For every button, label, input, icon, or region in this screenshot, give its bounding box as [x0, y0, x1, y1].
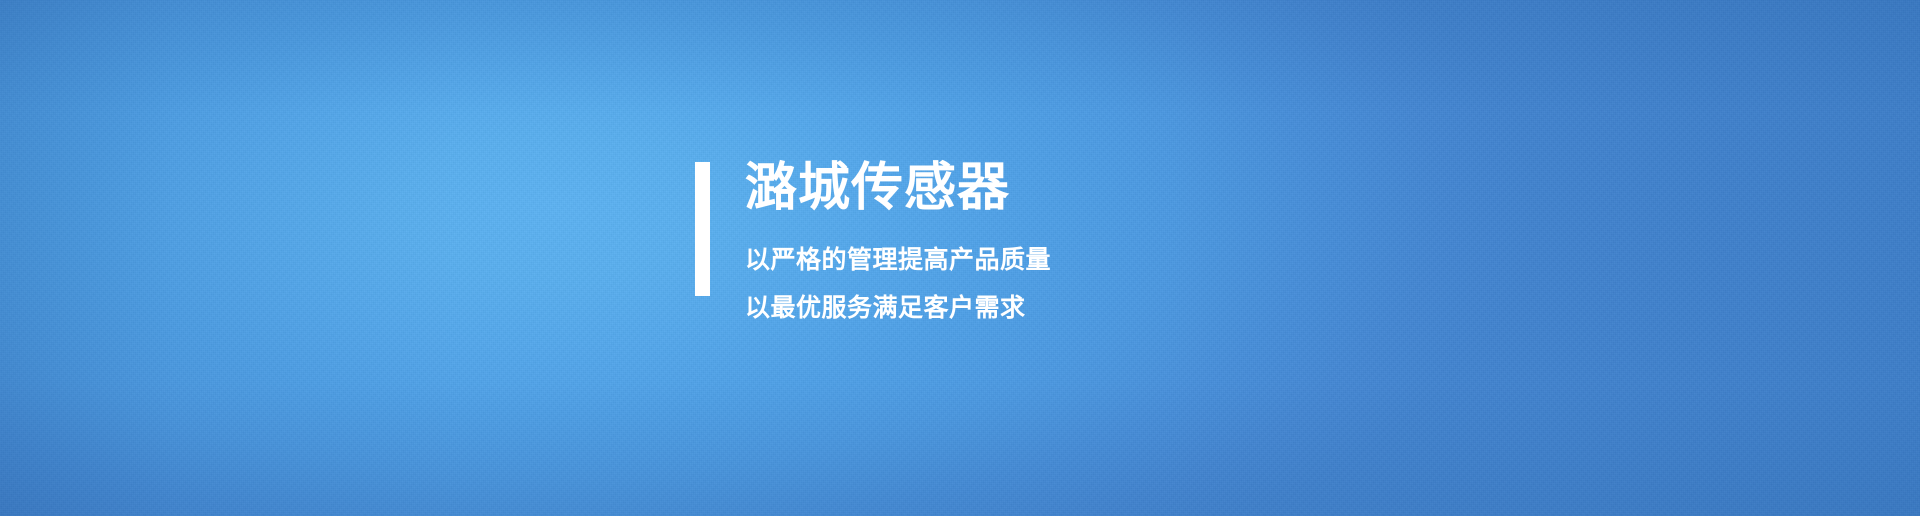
banner-text-block: 潞城传感器 以严格的管理提高产品质量 以最优服务满足客户需求: [745, 162, 1051, 321]
banner-tagline-service: 以最优服务满足客户需求: [745, 296, 1051, 321]
banner-content: 潞城传感器 以严格的管理提高产品质量 以最优服务满足客户需求: [695, 162, 1051, 321]
hero-banner: 潞城传感器 以严格的管理提高产品质量 以最优服务满足客户需求: [0, 0, 1920, 516]
accent-bar-decoration: [695, 162, 710, 296]
banner-headline: 潞城传感器: [745, 162, 1051, 214]
banner-tagline-quality: 以严格的管理提高产品质量: [745, 248, 1051, 273]
